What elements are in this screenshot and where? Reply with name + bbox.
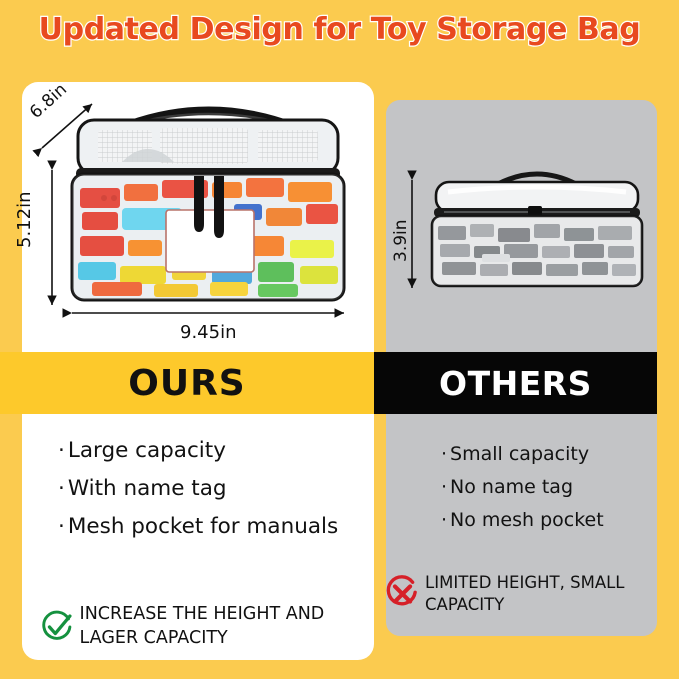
comparison-poster: Updated Design for Toy Storage Bag <box>0 0 679 679</box>
list-item: ·Mesh pocket for manuals <box>58 514 368 539</box>
dimension-label-width: 9.45in <box>180 322 237 343</box>
others-label: OTHERS <box>439 364 592 403</box>
ours-product-image <box>62 92 354 314</box>
list-item-label: Mesh pocket for manuals <box>68 514 338 539</box>
list-item: ·No mesh pocket <box>441 509 661 531</box>
ours-band: OURS <box>0 352 374 414</box>
bullet-dot-icon: · <box>441 476 447 498</box>
others-product-image <box>424 162 650 298</box>
page-title: Updated Design for Toy Storage Bag <box>0 12 679 47</box>
list-item: ·Small capacity <box>441 443 661 465</box>
check-circle-icon <box>40 604 74 650</box>
ours-summary-text: INCREASE THE HEIGHT AND LAGER CAPACITY <box>80 603 370 650</box>
list-item-label: No mesh pocket <box>450 509 604 531</box>
others-feature-list: ·Small capacity ·No name tag ·No mesh po… <box>441 443 661 542</box>
ours-label: OURS <box>128 363 245 404</box>
others-summary: LIMITED HEIGHT, SMALL CAPACITY <box>384 572 664 617</box>
list-item: ·Large capacity <box>58 438 368 463</box>
dimension-label-height: 5.12in <box>14 192 35 249</box>
x-circle-icon <box>384 572 421 616</box>
ours-feature-list: ·Large capacity ·With name tag ·Mesh poc… <box>58 438 368 552</box>
bullet-dot-icon: · <box>58 438 65 463</box>
bullet-dot-icon: · <box>441 443 447 465</box>
list-item-label: With name tag <box>68 476 227 501</box>
others-summary-text: LIMITED HEIGHT, SMALL CAPACITY <box>425 572 664 617</box>
ours-summary: INCREASE THE HEIGHT AND LAGER CAPACITY <box>40 603 370 650</box>
list-item: ·With name tag <box>58 476 368 501</box>
list-item-label: Large capacity <box>68 438 226 463</box>
dimension-label-others-height: 3.9in <box>391 219 411 262</box>
bullet-dot-icon: · <box>441 509 447 531</box>
bullet-dot-icon: · <box>58 514 65 539</box>
list-item-label: Small capacity <box>450 443 589 465</box>
list-item-label: No name tag <box>450 476 573 498</box>
list-item: ·No name tag <box>441 476 661 498</box>
others-band: OTHERS <box>374 352 657 414</box>
bullet-dot-icon: · <box>58 476 65 501</box>
